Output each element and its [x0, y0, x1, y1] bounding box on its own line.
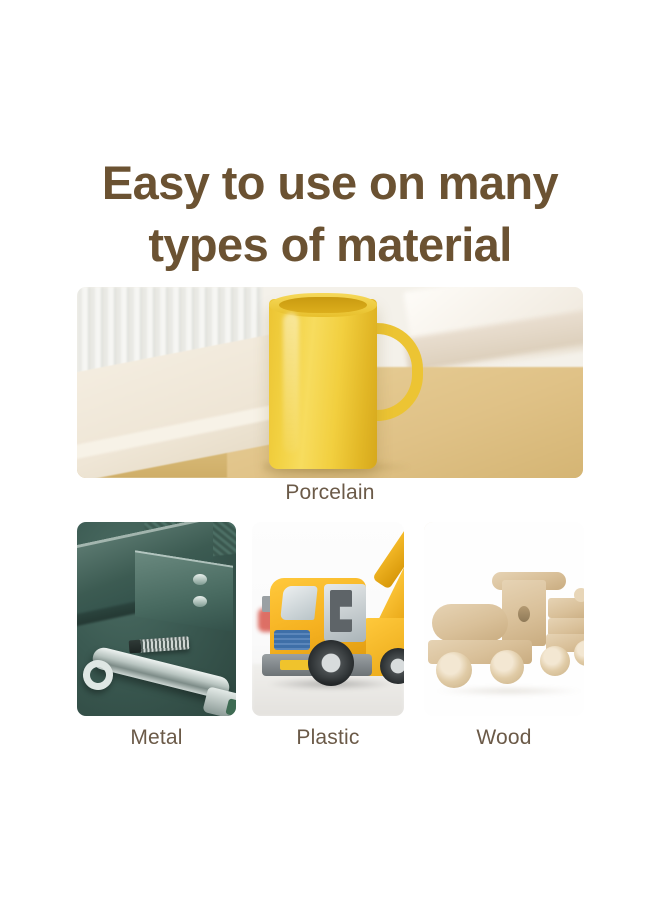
porcelain-photo — [77, 287, 583, 478]
train-shadow — [434, 686, 584, 696]
train-boiler — [432, 604, 508, 642]
train-wheel — [436, 652, 472, 688]
porcelain-label: Porcelain — [0, 481, 660, 505]
metal-label: Metal — [77, 726, 236, 750]
truck-windshield — [280, 586, 318, 620]
bracket-hole — [193, 574, 207, 585]
truck-shadow — [266, 678, 396, 690]
train-peg — [574, 588, 584, 602]
material-row — [0, 522, 660, 716]
wood-label: Wood — [424, 726, 584, 750]
metal-photo — [77, 522, 236, 716]
wood-photo — [424, 522, 584, 716]
truck-license-plate — [280, 660, 310, 670]
train-cab-window — [518, 606, 530, 622]
plastic-label: Plastic — [252, 726, 404, 750]
truck-grille — [274, 630, 310, 650]
bracket-hole — [193, 596, 207, 607]
infographic-page: Easy to use on many types of material Po… — [0, 0, 660, 900]
train-wheel — [490, 650, 524, 684]
plastic-photo — [252, 522, 404, 716]
mug-interior — [279, 297, 367, 313]
train-wheel — [540, 646, 570, 676]
page-title: Easy to use on many types of material — [0, 152, 660, 276]
mug-highlight — [283, 313, 299, 453]
